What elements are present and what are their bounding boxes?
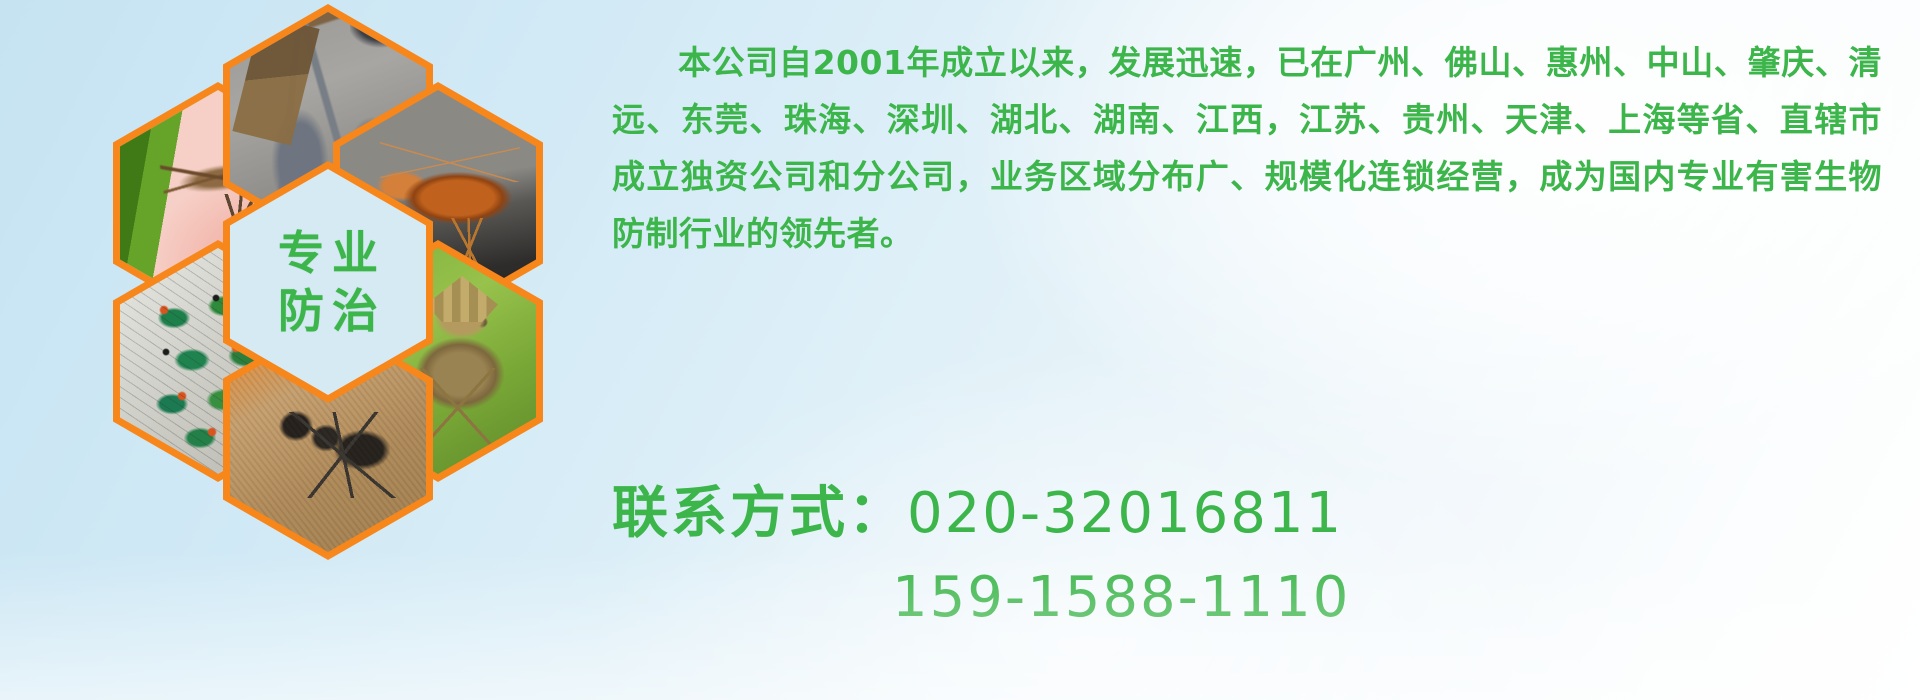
slogan-panel: 专业 防治 (230, 169, 426, 395)
honeycomb-collage: 专业 防治 (78, 0, 578, 564)
slogan-line-2: 防治 (270, 288, 386, 334)
company-description-text: 本公司自2001年成立以来，发展迅速，已在广州、佛山、惠州、中山、肇庆、清远、东… (612, 34, 1882, 262)
slogan-line-1: 专业 (270, 230, 386, 276)
contact-phone-primary[interactable]: 020-32016811 (907, 481, 1343, 546)
contact-phone-secondary[interactable]: 159-1588-1110 (892, 565, 1350, 630)
contact-primary-line: 联系方式：020-32016811 (612, 472, 1882, 556)
banner-root: 专业 防治 本公司自2001年成立以来，发展迅速，已在广州、佛山、惠州、中山、肇… (0, 0, 1920, 700)
contact-secondary-line: 159-1588-1110 (612, 556, 1882, 640)
contact-label: 联系方式： (612, 481, 907, 546)
contact-block: 联系方式：020-32016811 159-1588-1110 (612, 472, 1882, 640)
company-description: 本公司自2001年成立以来，发展迅速，已在广州、佛山、惠州、中山、肇庆、清远、东… (612, 34, 1882, 262)
